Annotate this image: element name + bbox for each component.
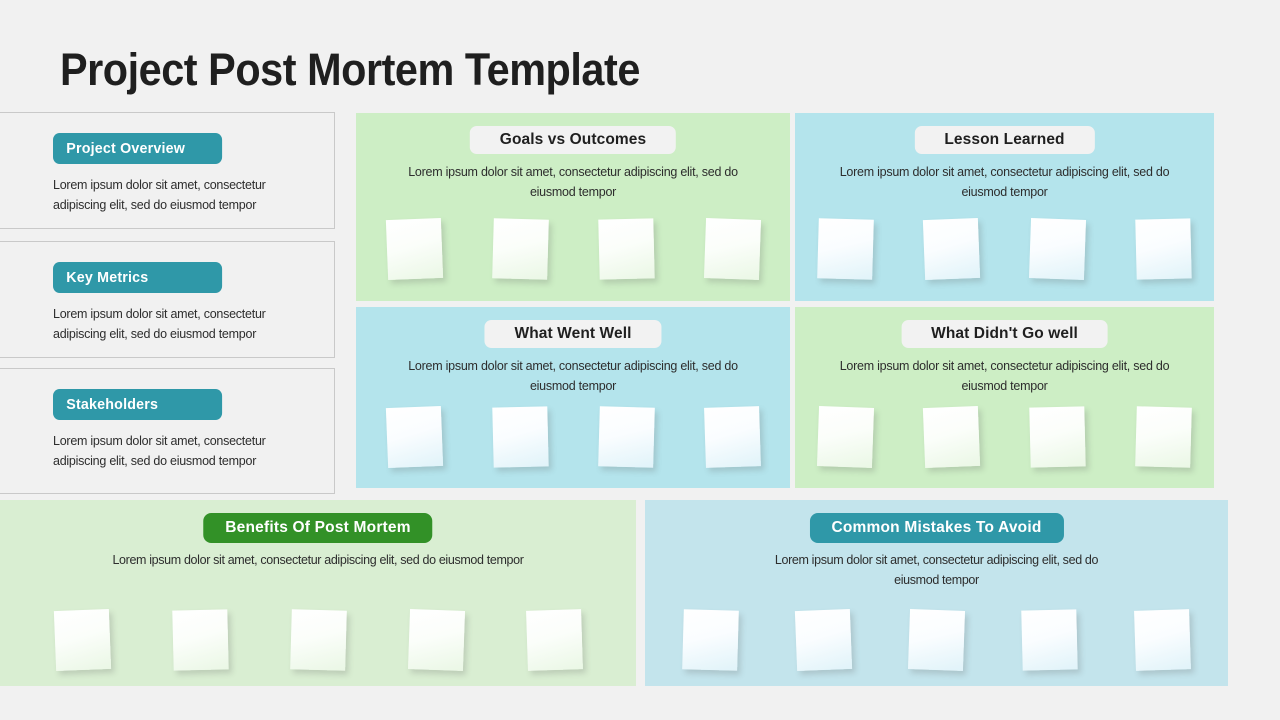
panel-body-benefits-of-post-mortem: Lorem ipsum dolor sit amet, consectetur … <box>0 550 636 570</box>
sticky-note[interactable] <box>1029 218 1086 280</box>
sticky-note[interactable] <box>1135 406 1192 468</box>
sticky-note[interactable] <box>908 609 965 671</box>
panel-body-common-mistakes-to-avoid: Lorem ipsum dolor sit amet, consectetur … <box>645 550 1228 590</box>
sidebar-badge-project-overview[interactable]: Project Overview <box>53 133 222 164</box>
sticky-note[interactable] <box>407 609 464 671</box>
panel-badge-benefits-of-post-mortem[interactable]: Benefits Of Post Mortem <box>203 513 432 543</box>
sticky-note-row <box>0 610 636 670</box>
sticky-note-row <box>356 219 790 279</box>
sticky-note[interactable] <box>172 609 228 670</box>
sticky-note-row <box>795 407 1214 467</box>
sticky-note[interactable] <box>598 406 655 468</box>
quadrant-what-didnt-go-well[interactable]: What Didn't Go well Lorem ipsum dolor si… <box>795 307 1214 488</box>
quadrant-body-what-went-well: Lorem ipsum dolor sit amet, consectetur … <box>356 356 790 396</box>
sticky-note[interactable] <box>385 218 442 280</box>
sticky-note[interactable] <box>1029 406 1085 467</box>
quadrant-lesson-learned[interactable]: Lesson Learned Lorem ipsum dolor sit ame… <box>795 113 1214 301</box>
sticky-note[interactable] <box>492 218 549 280</box>
sidebar-body-stakeholders: Lorem ipsum dolor sit amet, consectetur … <box>53 431 301 471</box>
sticky-note[interactable] <box>1134 609 1191 671</box>
sidebar-badge-stakeholders[interactable]: Stakeholders <box>53 389 222 420</box>
sticky-note[interactable] <box>682 609 739 671</box>
sidebar-card-stakeholders[interactable]: Stakeholders Lorem ipsum dolor sit amet,… <box>0 368 335 494</box>
sticky-note[interactable] <box>817 406 874 468</box>
sticky-note[interactable] <box>817 218 874 280</box>
sticky-note[interactable] <box>598 218 654 279</box>
sticky-note[interactable] <box>704 406 761 468</box>
quadrant-body-lesson-learned: Lorem ipsum dolor sit amet, consectetur … <box>795 162 1214 202</box>
sticky-note[interactable] <box>1135 218 1191 279</box>
quadrant-title-goals-vs-outcomes: Goals vs Outcomes <box>470 126 676 154</box>
quadrant-body-what-didnt-go-well: Lorem ipsum dolor sit amet, consectetur … <box>795 356 1214 396</box>
sticky-note[interactable] <box>795 609 852 671</box>
panel-common-mistakes-to-avoid[interactable]: Common Mistakes To Avoid Lorem ipsum dol… <box>645 500 1228 686</box>
page-title: Project Post Mortem Template <box>60 44 640 96</box>
sticky-note-row <box>795 219 1214 279</box>
panel-badge-common-mistakes-to-avoid[interactable]: Common Mistakes To Avoid <box>809 513 1063 543</box>
sidebar: Project Overview Lorem ipsum dolor sit a… <box>0 112 348 494</box>
sticky-note[interactable] <box>53 609 110 671</box>
sticky-note[interactable] <box>1021 609 1077 670</box>
quadrant-body-goals-vs-outcomes: Lorem ipsum dolor sit amet, consectetur … <box>356 162 790 202</box>
quadrant-title-what-didnt-go-well: What Didn't Go well <box>901 320 1108 348</box>
sticky-note[interactable] <box>290 609 347 671</box>
sticky-note[interactable] <box>492 406 548 467</box>
sidebar-card-project-overview[interactable]: Project Overview Lorem ipsum dolor sit a… <box>0 112 335 229</box>
sticky-note[interactable] <box>385 406 442 468</box>
panel-benefits-of-post-mortem[interactable]: Benefits Of Post Mortem Lorem ipsum dolo… <box>0 500 636 686</box>
sticky-note-row <box>356 407 790 467</box>
sticky-note[interactable] <box>923 406 980 468</box>
sticky-note-row <box>645 610 1228 670</box>
sticky-note[interactable] <box>703 218 760 280</box>
quadrant-title-what-went-well: What Went Well <box>484 320 661 348</box>
sidebar-card-key-metrics[interactable]: Key Metrics Lorem ipsum dolor sit amet, … <box>0 241 335 358</box>
sidebar-body-key-metrics: Lorem ipsum dolor sit amet, consectetur … <box>53 304 301 344</box>
sidebar-body-project-overview: Lorem ipsum dolor sit amet, consectetur … <box>53 175 301 215</box>
quadrant-goals-vs-outcomes[interactable]: Goals vs Outcomes Lorem ipsum dolor sit … <box>356 113 790 301</box>
sticky-note[interactable] <box>923 218 980 280</box>
quadrant-title-lesson-learned: Lesson Learned <box>914 126 1094 154</box>
sticky-note[interactable] <box>526 609 583 671</box>
quadrant-what-went-well[interactable]: What Went Well Lorem ipsum dolor sit ame… <box>356 307 790 488</box>
sidebar-badge-key-metrics[interactable]: Key Metrics <box>53 262 222 293</box>
